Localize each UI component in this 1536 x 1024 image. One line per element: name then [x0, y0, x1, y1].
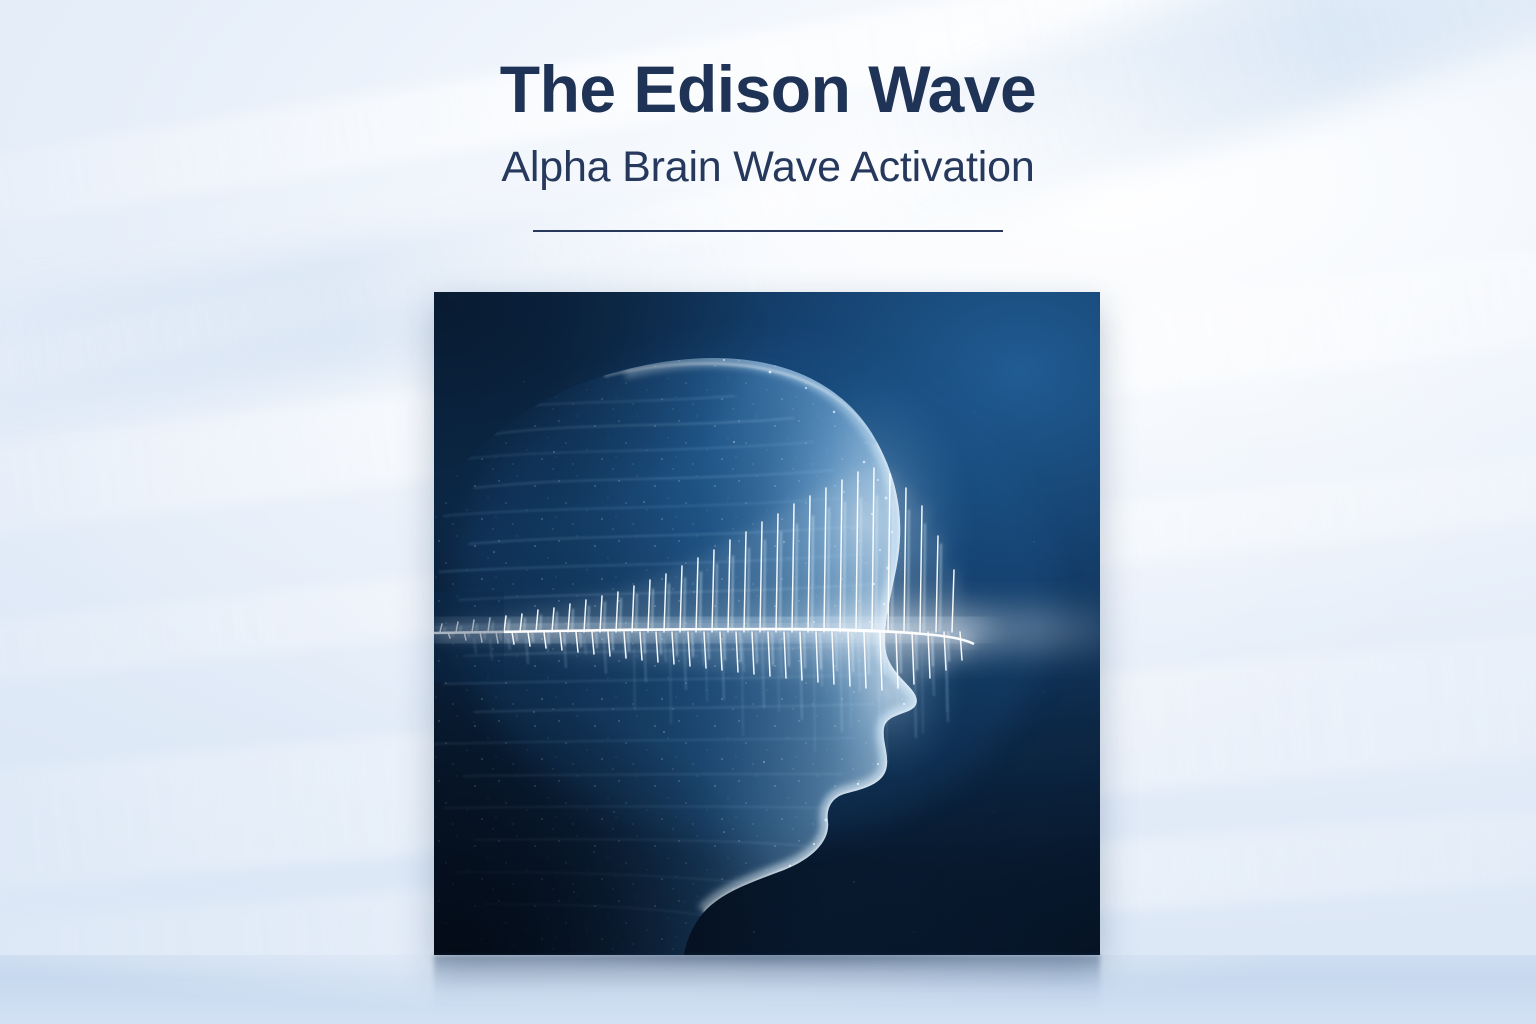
page-title: The Edison Wave: [0, 56, 1536, 122]
panel-reflection: [434, 955, 1100, 1013]
artwork-panel: [434, 292, 1100, 955]
artwork-corner-shading: [434, 292, 1100, 955]
page-subtitle: Alpha Brain Wave Activation: [0, 146, 1536, 189]
header-divider: [533, 230, 1003, 232]
